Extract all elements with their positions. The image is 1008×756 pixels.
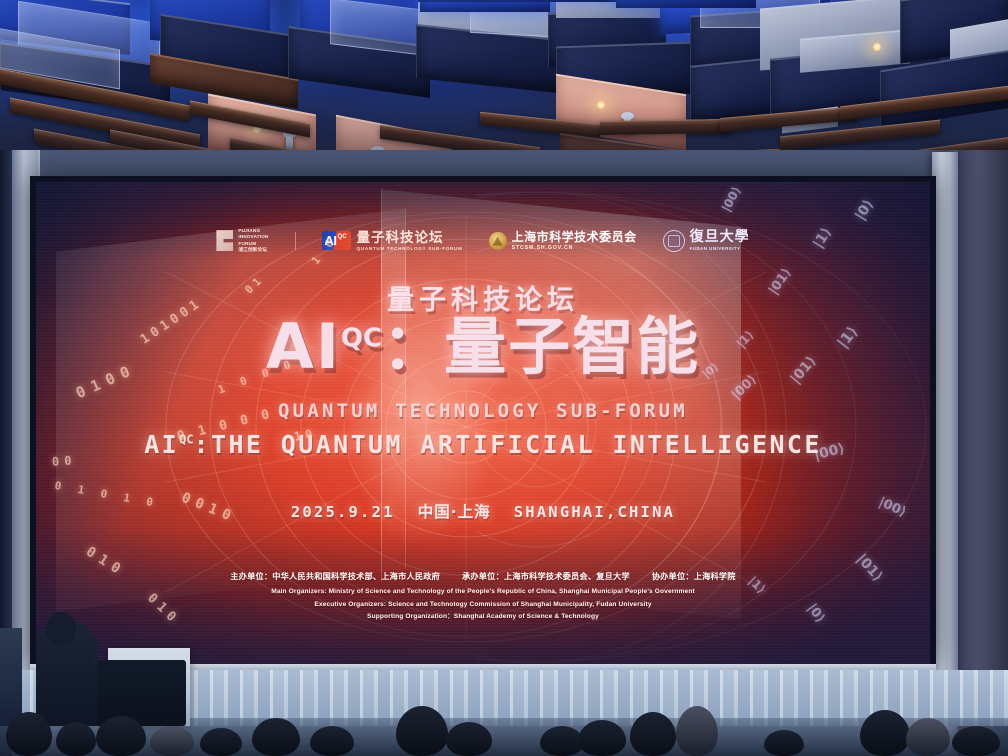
ceiling-beam <box>10 98 200 150</box>
ceiling-panel-glass <box>700 0 820 28</box>
audience-head <box>578 720 626 756</box>
logo-quantum-technology-sub-forum: AI QC 量子科技论坛 QUANTUM TECHNOLOGY SUB-FORU… <box>322 231 463 251</box>
organizers-english: Main Organizers: Ministry of Science and… <box>36 586 930 624</box>
side-lectern <box>0 628 22 726</box>
organizer-en-executive: Executive Organizers: Science and Techno… <box>36 599 930 612</box>
ceiling-panel-dark <box>416 24 566 94</box>
en-line2-rest: :THE QUANTUM ARTIFICIAL INTELLIGENCE <box>194 430 822 459</box>
ceiling-panel-grey <box>418 0 548 47</box>
ceiling-panel-dark <box>900 0 1008 64</box>
ceiling-beam <box>190 100 310 137</box>
english-subtitle-line1: QUANTUM TECHNOLOGY SUB-FORUM <box>36 400 930 422</box>
event-date: 2025.9.21 <box>291 503 395 521</box>
audience-head <box>252 718 300 756</box>
ceiling-downlight <box>872 42 882 52</box>
audience-head <box>6 712 52 756</box>
ceiling-beam <box>780 120 940 151</box>
audience-head <box>860 710 910 756</box>
ket-decoration: |0⟩ <box>852 197 877 224</box>
logo-divider <box>295 232 296 250</box>
ceiling-panel-blue <box>616 0 756 8</box>
audience-head <box>200 728 242 756</box>
ceiling-beam <box>720 106 860 132</box>
main-title-colon: ： <box>382 310 444 383</box>
aiqc-badge-main: AI <box>325 234 337 247</box>
en-line2-prefix: AI <box>144 430 179 459</box>
ceiling-spotlight <box>624 116 631 134</box>
aiqc-badge-icon: AI QC <box>322 231 351 250</box>
organizer-cn-supporting: 协办单位：上海科学院 <box>652 571 736 581</box>
aiqc-badge-superscript: QC <box>338 234 347 240</box>
audience-head <box>446 722 492 756</box>
audience-head <box>630 712 676 756</box>
ceiling-panel-grey <box>556 0 668 18</box>
ceiling-panel-glass <box>18 1 160 81</box>
audience-head <box>56 722 96 756</box>
organizer-cn-main: 主办单位：中华人民共和国科学技术部、上海市人民政府 <box>230 571 440 581</box>
audience-head <box>96 716 146 756</box>
ceiling-panel-blue <box>300 0 450 57</box>
main-title: AIQC：量子智能 <box>36 316 930 378</box>
audience-head <box>150 726 194 756</box>
fudan-en: FUDAN UNIVERSITY <box>690 246 750 251</box>
pujiang-line-4: 浦江创新论坛 <box>238 247 268 253</box>
ceiling-panel-dark <box>880 50 1008 129</box>
ceiling-panel-blue <box>0 0 130 55</box>
ceiling-beam <box>480 112 600 138</box>
pujiang-mark-icon <box>216 230 233 251</box>
fudan-seal-icon <box>663 230 685 252</box>
logo-shanghai-stc: 上海市科学技术委员会 STCSM.SH.GOV.CN <box>489 231 637 251</box>
right-wall <box>958 150 1008 756</box>
ceiling-beam <box>0 67 190 122</box>
stcsm-cn: 上海市科学技术委员会 <box>512 231 637 244</box>
ceiling-panel-dark <box>548 7 666 67</box>
logo-pujiang-innovation-forum: PUJIANG INNOVATION FORUM 浦江创新论坛 <box>216 228 268 253</box>
conference-stage-photo: PUJIANG INNOVATION FORUM 浦江创新论坛 AI QC 量子… <box>0 0 1008 756</box>
main-title-prefix: AI <box>266 310 341 383</box>
audience-head <box>310 726 354 756</box>
ceiling-beam <box>600 119 730 135</box>
ceiling-beam-panel <box>150 53 298 109</box>
en-line2-superscript: QC <box>179 433 193 447</box>
event-location-cn: 中国·上海 <box>418 503 491 521</box>
ceiling-panel-blue <box>660 0 830 34</box>
ceiling-panel-grey <box>800 29 910 73</box>
stcsm-en: STCSM.SH.GOV.CN <box>512 245 637 251</box>
ceiling-panel-blue <box>420 0 550 12</box>
ceiling-panel-grey <box>760 0 910 71</box>
ceiling-panel-blue <box>418 0 668 2</box>
pujiang-line-2: INNOVATION <box>238 234 268 240</box>
ceiling-downlight <box>252 124 262 134</box>
organizer-en-supporting: Supporting Organization：Shanghai Academy… <box>36 611 930 624</box>
quantum-forum-cn: 量子科技论坛 <box>357 231 463 245</box>
ceiling-panel-dark <box>0 42 170 114</box>
organizer-cn-executive: 承办单位：上海市科学技术委员会、复旦大学 <box>462 571 630 581</box>
ceiling-panel-dark <box>160 14 290 87</box>
stcsm-logo-text: 上海市科学技术委员会 STCSM.SH.GOV.CN <box>512 231 637 251</box>
ceiling-panel-lit <box>556 74 686 151</box>
date-location-line: 2025.9.21 中国·上海 SHANGHAI,CHINA <box>36 500 930 522</box>
ceiling-beam <box>840 86 1008 121</box>
event-location-en: SHANGHAI,CHINA <box>514 503 675 521</box>
main-title-superscript: QC <box>341 323 382 353</box>
fudan-cn: 復旦大學 <box>690 230 750 244</box>
ceiling-panel-dark <box>770 41 940 119</box>
main-title-suffix: 量子智能 <box>444 310 700 383</box>
ceiling-panel-glass <box>470 0 590 39</box>
ceiling-panel-dark <box>690 50 840 122</box>
ceiling-panel-grey <box>950 19 1008 88</box>
ceiling-downlight <box>596 100 606 110</box>
audience-head <box>906 718 950 756</box>
ket-decoration: |00⟩ <box>719 184 744 214</box>
ceiling-panel-dark <box>288 26 430 98</box>
ceiling-panel-grey <box>782 107 838 134</box>
stcsm-emblem-icon <box>489 232 507 250</box>
audience-head <box>764 730 804 756</box>
english-subtitle-line2: AIQC:THE QUANTUM ARTIFICIAL INTELLIGENCE <box>36 430 930 459</box>
ceiling-panel-dark <box>690 4 850 71</box>
logo-fudan-university: 復旦大學 FUDAN UNIVERSITY <box>663 230 750 252</box>
pujiang-logo-text: PUJIANG INNOVATION FORUM 浦江创新论坛 <box>238 228 268 253</box>
ceiling-panel-glass <box>330 0 426 56</box>
audience-head <box>952 726 1000 756</box>
quantum-forum-logo-text: 量子科技论坛 QUANTUM TECHNOLOGY SUB-FORUM <box>357 231 463 251</box>
logo-row: PUJIANG INNOVATION FORUM 浦江创新论坛 AI QC 量子… <box>36 228 930 253</box>
audience-head <box>396 706 448 756</box>
speaker-silhouette-head <box>46 612 76 645</box>
ceiling-panel-dark <box>556 42 696 99</box>
fudan-logo-text: 復旦大學 FUDAN UNIVERSITY <box>690 230 750 251</box>
quantum-forum-en: QUANTUM TECHNOLOGY SUB-FORUM <box>357 246 463 251</box>
audience-head <box>676 706 718 756</box>
screen-content: PUJIANG INNOVATION FORUM 浦江创新论坛 AI QC 量子… <box>36 182 930 664</box>
ceiling-panel-glass <box>0 27 120 90</box>
ceiling-panel-blue <box>150 0 270 52</box>
organizers-chinese: 主办单位：中华人民共和国科学技术部、上海市人民政府承办单位：上海市科学技术委员会… <box>36 570 930 582</box>
led-screen: PUJIANG INNOVATION FORUM 浦江创新论坛 AI QC 量子… <box>36 182 930 664</box>
organizer-en-main: Main Organizers: Ministry of Science and… <box>36 586 930 599</box>
